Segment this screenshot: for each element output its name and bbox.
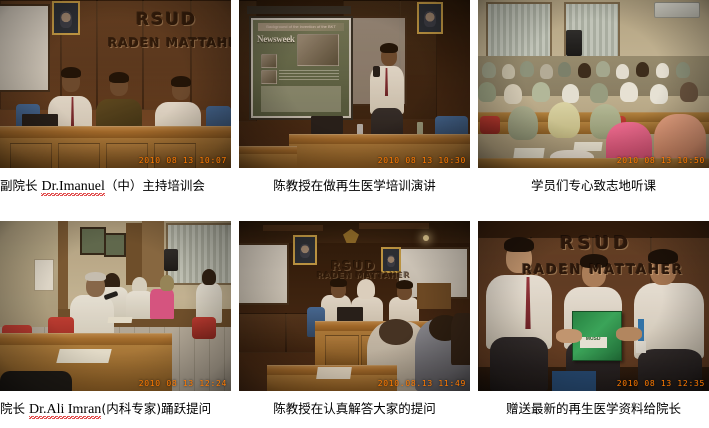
photo-caption-4: 院长 Dr.Ali Imran(内科专家)踊跃提问 — [0, 391, 231, 427]
photo-image-4[interactable]: 2010 08 13 12:24 — [0, 221, 231, 391]
photo-caption-2: 陈教授在做再生医学培训演讲 — [239, 168, 470, 204]
sign-rsud-line2-6: RADEN MATTAHER — [522, 263, 684, 278]
photo-caption-5: 陈教授在认真解答大家的提问 — [239, 391, 470, 427]
photo-cell-6: RSUD RADEN MATTAHER — [478, 221, 709, 427]
photo-gallery: RSUD RADEN MATTAHER — [0, 0, 709, 427]
photo-cell-1: RSUD RADEN MATTAHER — [0, 0, 231, 204]
photo-image-5[interactable]: RSUD RADEN MATTAHER — [239, 221, 470, 391]
speaker-box-icon — [566, 30, 582, 56]
caption-latin-name-1: Dr.Imanuel — [41, 179, 104, 197]
photo-cell-3: 2010 08 13 10:50 学员们专心致志地听课 — [478, 0, 709, 204]
photo-caption-3: 学员们专心致志地听课 — [478, 168, 709, 204]
photo-cell-4: 2010 08 13 12:24 院长 Dr.Ali Imran(内科专家)踊跃… — [0, 221, 231, 427]
caption-suffix-4: (内科专家)踊跃提问 — [101, 401, 211, 416]
sign-rsud-line2: RADEN MATTAHER — [108, 36, 231, 50]
photo-caption-1: 副院长 Dr.Imanuel（中）主持培训会 — [0, 168, 231, 204]
photo-timestamp-4: 2010 08 13 12:24 — [139, 379, 227, 388]
scene-conference-table: RSUD RADEN MATTAHER — [0, 0, 231, 168]
caption-latin-name-4: Dr.Ali Imran — [29, 402, 101, 420]
photo-timestamp-3: 2010 08 13 10:50 — [617, 156, 705, 165]
photo-timestamp-1: 2010 08 13 10:07 — [139, 156, 227, 165]
document-folder-label: MUSD — [580, 337, 607, 348]
scene-question-from-director — [0, 221, 231, 391]
scene-audience — [478, 0, 709, 168]
photo-image-2[interactable]: Background of the invention of the BKT N… — [239, 0, 470, 168]
sign-rsud-line2-5: RADEN MATTAHER — [317, 271, 411, 280]
photo-row-1: RSUD RADEN MATTAHER — [0, 0, 709, 204]
caption-prefix-4: 院长 — [0, 401, 29, 416]
sign-rsud-line1: RSUD — [136, 10, 197, 30]
photo-timestamp-6: 2010 08 13 12:35 — [617, 379, 705, 388]
photo-timestamp-2: 2010 08 13 10:30 — [378, 156, 466, 165]
slide-heading: Background of the invention of the BKT — [258, 23, 344, 31]
photo-cell-2: Background of the invention of the BKT N… — [239, 0, 470, 204]
photo-row-2: 2010 08 13 12:24 院长 Dr.Ali Imran(内科专家)踊跃… — [0, 221, 709, 427]
sign-rsud-line1-6: RSUD — [560, 233, 632, 254]
photo-image-6[interactable]: RSUD RADEN MATTAHER — [478, 221, 709, 391]
photo-cell-5: RSUD RADEN MATTAHER — [239, 221, 470, 427]
scene-handover: RSUD RADEN MATTAHER — [478, 221, 709, 391]
scene-presentation: Background of the invention of the BKT N… — [239, 0, 470, 168]
photo-image-1[interactable]: RSUD RADEN MATTAHER — [0, 0, 231, 168]
wall-portrait-icon — [52, 1, 80, 35]
photo-caption-6: 赠送最新的再生医学资料给院长 — [478, 391, 709, 427]
air-conditioner-icon — [654, 2, 700, 18]
caption-suffix-1: （中）主持培训会 — [105, 178, 205, 193]
scene-answering-questions: RSUD RADEN MATTAHER — [239, 221, 470, 391]
photo-image-3[interactable]: 2010 08 13 10:50 — [478, 0, 709, 168]
caption-prefix-1: 副院长 — [0, 178, 41, 193]
slide-masthead: Newsweek — [257, 34, 295, 44]
photo-timestamp-5: 2010.08.13 11:49 — [378, 379, 466, 388]
